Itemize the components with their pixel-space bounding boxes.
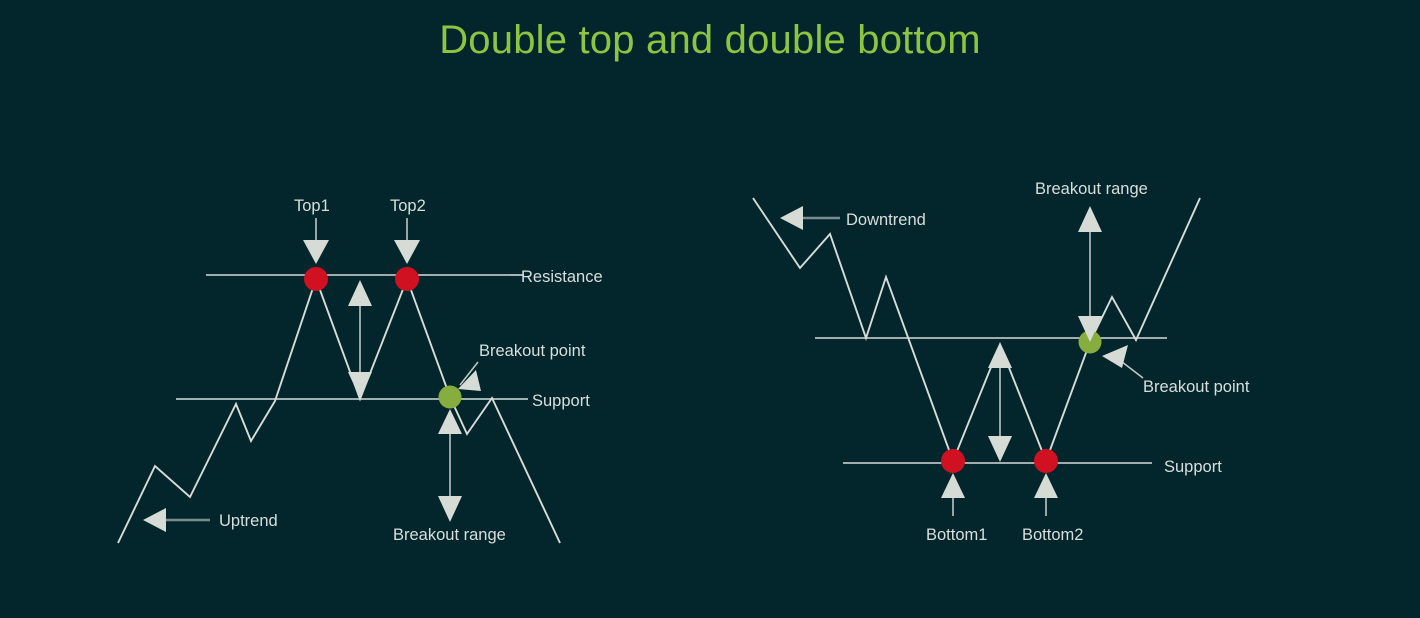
breakout-range-up-arrow-icon-left — [438, 409, 462, 434]
pattern-height-up-arrow-icon-right — [988, 342, 1012, 368]
resistance-label: Resistance — [521, 268, 603, 286]
top1-arrow-icon — [303, 240, 329, 264]
panel-double-bottom: Downtrend Breakout range Breakout point … — [753, 180, 1250, 544]
bottom2-arrow-icon — [1034, 473, 1058, 498]
marker-top2 — [395, 267, 419, 291]
breakout-point-label-left: Breakout point — [479, 342, 586, 360]
double-top-double-bottom-diagram: Top1 Top2 Resistance Support Breakout po… — [0, 0, 1420, 618]
pattern-height-down-arrow-icon-right — [988, 436, 1012, 462]
breakout-point-arrow-icon-right — [1102, 345, 1128, 368]
breakout-range-up-arrow-icon-right — [1078, 206, 1102, 232]
bottom1-arrow-icon — [941, 473, 965, 498]
uptrend-arrow-icon — [143, 508, 166, 532]
marker-bottom1 — [941, 449, 965, 473]
panel-double-top: Top1 Top2 Resistance Support Breakout po… — [118, 197, 603, 544]
diagram-canvas: Double top and double bottom — [0, 0, 1420, 618]
top2-arrow-icon — [394, 240, 420, 264]
uptrend-label: Uptrend — [219, 512, 278, 530]
support-label-left: Support — [532, 392, 590, 410]
marker-top1 — [304, 267, 328, 291]
bottom1-label: Bottom1 — [926, 526, 987, 544]
bottom2-label: Bottom2 — [1022, 526, 1083, 544]
pattern-height-down-arrow-icon-left — [348, 372, 372, 398]
breakout-point-label-right: Breakout point — [1143, 378, 1250, 396]
breakout-range-down-arrow-icon-left — [438, 496, 462, 522]
price-line-double-bottom — [753, 198, 1200, 461]
downtrend-label: Downtrend — [846, 211, 926, 229]
downtrend-arrow-icon — [780, 206, 803, 230]
top2-label: Top2 — [390, 197, 426, 215]
breakout-range-label-right: Breakout range — [1035, 180, 1148, 198]
top1-label: Top1 — [294, 197, 330, 215]
breakout-range-label-left: Breakout range — [393, 526, 506, 544]
support-label-right: Support — [1164, 458, 1222, 476]
pattern-height-up-arrow-icon-left — [348, 280, 372, 306]
price-line-double-top — [118, 279, 560, 543]
marker-bottom2 — [1034, 449, 1058, 473]
